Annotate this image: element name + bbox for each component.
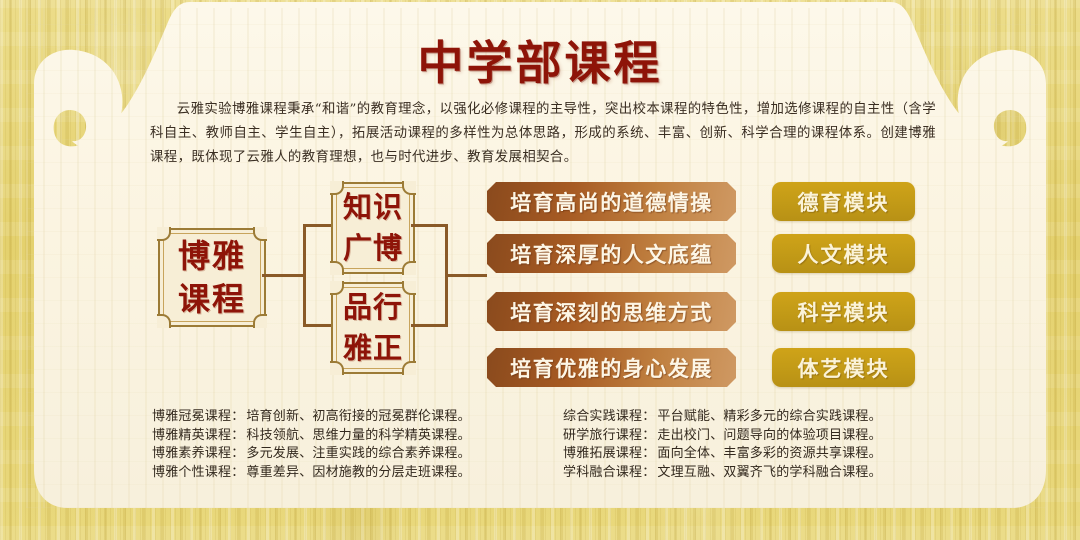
plaque-corner-bl xyxy=(330,261,344,275)
module-label-4: 体艺模块 xyxy=(798,353,890,383)
course-desc: 科技领航、思维力量的科学精英课程。 xyxy=(246,428,470,443)
module-label-1: 德育模块 xyxy=(798,187,890,217)
course-name: 学科融合课程： xyxy=(563,465,655,480)
module-button-arts-sports[interactable]: 体艺模块 xyxy=(772,348,915,387)
module-button-humanities[interactable]: 人文模块 xyxy=(772,234,915,273)
course-item: 博雅精英课程：科技领航、思维力量的科学精英课程。 xyxy=(152,427,552,446)
course-desc: 尊重差异、因材施教的分层走班课程。 xyxy=(246,465,470,480)
plaque-corner-tl xyxy=(157,227,171,241)
plaque-corner-bl xyxy=(157,314,171,328)
course-desc: 平台赋能、精彩多元的综合实践课程。 xyxy=(657,409,881,424)
goal-button-2[interactable]: 培育深厚的人文底蕴 xyxy=(487,234,736,273)
plaque-branch-conduct-label: 品行 雅正 xyxy=(343,287,403,369)
module-label-3: 科学模块 xyxy=(798,297,890,327)
plaque-corner-tr xyxy=(402,181,416,195)
plaque-root-label: 博雅 课程 xyxy=(178,235,246,321)
course-desc: 面向全体、丰富多彩的资源共享课程。 xyxy=(657,446,881,461)
course-desc: 培育创新、初高衔接的冠冕群伦课程。 xyxy=(246,409,470,424)
course-name: 博雅冠冕课程： xyxy=(152,409,244,424)
course-list-right: 综合实践课程：平台赋能、精彩多元的综合实践课程。 研学旅行课程：走出校门、问题导… xyxy=(563,408,963,482)
course-item: 综合实践课程：平台赋能、精彩多元的综合实践课程。 xyxy=(563,408,963,427)
plaque-corner-bl xyxy=(330,361,344,375)
connector-branch1-out xyxy=(411,224,448,227)
course-desc: 文理互融、双翼齐飞的学科融合课程。 xyxy=(657,465,881,480)
course-desc: 多元发展、注重实践的综合素养课程。 xyxy=(246,446,470,461)
plaque-branch-knowledge: 知识 广博 xyxy=(331,182,415,274)
connector-root-stem xyxy=(262,274,306,277)
connector-to-goals xyxy=(445,274,487,277)
course-list-left: 博雅冠冕课程：培育创新、初高衔接的冠冕群伦课程。 博雅精英课程：科技领航、思维力… xyxy=(152,408,552,482)
course-name: 博雅拓展课程： xyxy=(563,446,655,461)
module-button-science[interactable]: 科学模块 xyxy=(772,292,915,331)
course-item: 研学旅行课程：走出校门、问题导向的体验项目课程。 xyxy=(563,427,963,446)
course-item: 学科融合课程：文理互融、双翼齐飞的学科融合课程。 xyxy=(563,464,963,483)
poster-canvas: 中学部课程 云雅实验博雅课程秉承“和谐”的教育理念，以强化必修课程的主导性，突出… xyxy=(0,0,1080,540)
connector-root-to-branch1 xyxy=(303,224,333,227)
plaque-root-boya-course: 博雅 课程 xyxy=(158,228,266,327)
plaque-corner-br xyxy=(253,314,267,328)
connector-root-bracket xyxy=(303,224,306,327)
plaque-corner-tr xyxy=(253,227,267,241)
module-label-2: 人文模块 xyxy=(798,239,890,269)
goal-label-4: 培育优雅的身心发展 xyxy=(510,353,713,383)
module-button-moral-education[interactable]: 德育模块 xyxy=(772,182,915,221)
connector-root-to-branch2 xyxy=(303,324,333,327)
goal-label-3: 培育深刻的思维方式 xyxy=(510,297,713,327)
course-name: 研学旅行课程： xyxy=(563,428,655,443)
connector-branch2-out xyxy=(411,324,448,327)
course-item: 博雅拓展课程：面向全体、丰富多彩的资源共享课程。 xyxy=(563,445,963,464)
goal-label-1: 培育高尚的道德情操 xyxy=(510,187,713,217)
course-name: 博雅素养课程： xyxy=(152,446,244,461)
course-item: 博雅素养课程：多元发展、注重实践的综合素养课程。 xyxy=(152,445,552,464)
goal-button-1[interactable]: 培育高尚的道德情操 xyxy=(487,182,736,221)
course-item: 博雅个性课程：尊重差异、因材施教的分层走班课程。 xyxy=(152,464,552,483)
plaque-branch-conduct: 品行 雅正 xyxy=(331,282,415,374)
plaque-corner-br xyxy=(402,361,416,375)
course-name: 博雅个性课程： xyxy=(152,465,244,480)
goal-button-3[interactable]: 培育深刻的思维方式 xyxy=(487,292,736,331)
course-name: 综合实践课程： xyxy=(563,409,655,424)
plaque-branch-knowledge-label: 知识 广博 xyxy=(343,187,403,269)
plaque-corner-br xyxy=(402,261,416,275)
plaque-corner-tl xyxy=(330,281,344,295)
plaque-corner-tl xyxy=(330,181,344,195)
course-item: 博雅冠冕课程：培育创新、初高衔接的冠冕群伦课程。 xyxy=(152,408,552,427)
plaque-corner-tr xyxy=(402,281,416,295)
goal-label-2: 培育深厚的人文底蕴 xyxy=(510,239,713,269)
course-name: 博雅精英课程： xyxy=(152,428,244,443)
course-desc: 走出校门、问题导向的体验项目课程。 xyxy=(657,428,881,443)
goal-button-4[interactable]: 培育优雅的身心发展 xyxy=(487,348,736,387)
